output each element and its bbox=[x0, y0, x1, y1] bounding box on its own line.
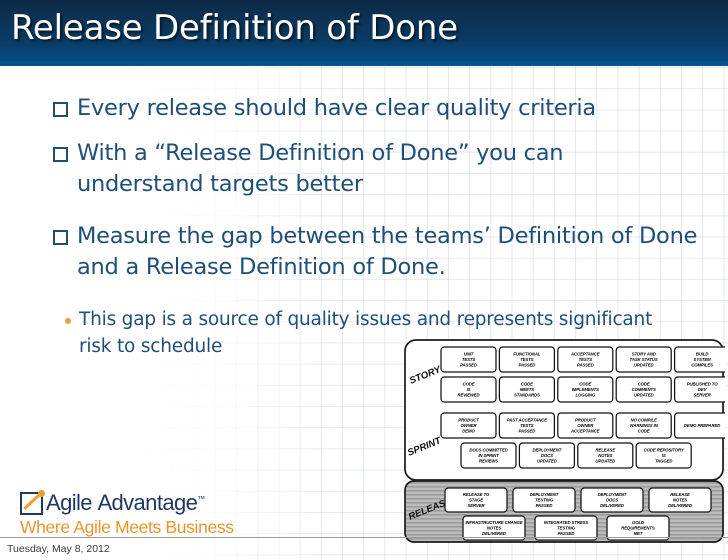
svg-text:IS: IS bbox=[662, 453, 666, 458]
logo-name-part2: Advantage bbox=[97, 490, 197, 515]
svg-text:FUNCTIONAL: FUNCTIONAL bbox=[513, 351, 540, 356]
dod-criterion-card: DEPLOYMENTTESTINGPASSED bbox=[513, 488, 575, 512]
svg-text:TASK STATUS: TASK STATUS bbox=[630, 357, 658, 362]
svg-text:UPDATED: UPDATED bbox=[537, 459, 557, 464]
svg-text:REVIEWS: REVIEWS bbox=[479, 459, 498, 464]
svg-text:PAST ACCEPTANCE: PAST ACCEPTANCE bbox=[507, 417, 547, 422]
dod-criterion-card: CODEMEETSSTANDARDS bbox=[499, 377, 554, 402]
svg-text:CODE: CODE bbox=[579, 381, 591, 386]
svg-text:DEMO: DEMO bbox=[462, 429, 475, 434]
svg-text:DEPLOYMENT: DEPLOYMENT bbox=[532, 447, 561, 452]
dod-criterion-card: DEPLOYMENTDOCSUPDATED bbox=[519, 443, 574, 468]
svg-text:OWNER: OWNER bbox=[461, 423, 478, 428]
svg-text:DEV: DEV bbox=[698, 387, 708, 392]
svg-text:NO COMPILE: NO COMPILE bbox=[631, 417, 657, 422]
dod-criterion-card: CODEISREVIEWED bbox=[441, 377, 496, 402]
svg-text:NOTES: NOTES bbox=[598, 453, 613, 458]
svg-text:PASSED: PASSED bbox=[519, 363, 536, 368]
logo-wordmark: Agile Advantage™ bbox=[46, 490, 205, 516]
dod-criterion-card: RELEASENOTESDELIVERED bbox=[649, 488, 711, 512]
square-bullet-icon bbox=[53, 230, 68, 245]
dod-criterion-card: STORY ANDTASK STATUSUPDATED bbox=[616, 347, 671, 372]
svg-text:DOCS: DOCS bbox=[606, 498, 618, 503]
square-bullet-icon bbox=[53, 147, 68, 162]
svg-text:IMPLEMENTS: IMPLEMENTS bbox=[572, 387, 599, 392]
dod-criterion-card: FUNCTIONALTESTSPASSED bbox=[499, 347, 554, 372]
svg-text:TESTS: TESTS bbox=[579, 357, 593, 362]
bullet-text-1: Every release should have clear quality … bbox=[77, 93, 596, 124]
svg-text:IN SPRINT: IN SPRINT bbox=[478, 453, 499, 458]
svg-text:DELIVERED: DELIVERED bbox=[668, 503, 692, 508]
dod-criterion-card: PRODUCTOWNERDEMO bbox=[441, 413, 496, 438]
svg-text:DEPLOYMENT: DEPLOYMENT bbox=[598, 492, 627, 497]
svg-text:REQUIREMENTS: REQUIREMENTS bbox=[621, 526, 655, 531]
svg-text:SERVER: SERVER bbox=[467, 503, 485, 508]
svg-text:PRODUCT: PRODUCT bbox=[575, 417, 596, 422]
agile-advantage-arrow-icon bbox=[20, 492, 43, 515]
definition-of-done-svg: STORYUNITTESTSPASSEDFUNCTIONALTESTSPASSE… bbox=[403, 338, 725, 544]
svg-text:COMMENTS: COMMENTS bbox=[632, 387, 656, 392]
svg-text:MEETS: MEETS bbox=[520, 387, 535, 392]
square-bullet-icon bbox=[53, 102, 68, 117]
brand-logo: Agile Advantage™ Where Agile Meets Busin… bbox=[20, 490, 234, 538]
svg-text:DEPLOYMENT: DEPLOYMENT bbox=[530, 492, 559, 497]
svg-text:ACCEPTANCE: ACCEPTANCE bbox=[570, 429, 600, 434]
svg-text:TESTS: TESTS bbox=[520, 423, 534, 428]
svg-text:DOCS COMMITTED: DOCS COMMITTED bbox=[469, 447, 507, 452]
svg-text:IS: IS bbox=[467, 387, 471, 392]
svg-text:WARNINGS IN: WARNINGS IN bbox=[630, 423, 659, 428]
bullet-item-3: Measure the gap between the teams’ Defin… bbox=[53, 221, 722, 283]
svg-text:INTEGRATED STRESS: INTEGRATED STRESS bbox=[544, 520, 589, 525]
svg-text:DEMO PREPARED: DEMO PREPARED bbox=[684, 423, 720, 428]
svg-text:TESTING: TESTING bbox=[557, 526, 576, 531]
trademark-symbol: ™ bbox=[197, 495, 204, 504]
svg-text:PASSED: PASSED bbox=[558, 531, 575, 536]
bullet-text-2: With a “Release Definition of Done” you … bbox=[77, 138, 662, 200]
dod-criterion-card: RELEASENOTESUPDATED bbox=[578, 443, 633, 468]
footer-date: Tuesday, May 8, 2012 bbox=[7, 543, 110, 555]
svg-text:UPDATED: UPDATED bbox=[634, 363, 654, 368]
svg-text:REVIEWED: REVIEWED bbox=[457, 393, 479, 398]
svg-text:COMPILES: COMPILES bbox=[691, 363, 713, 368]
dod-criterion-card: ACCEPTANCETESTSPASSED bbox=[558, 347, 613, 372]
svg-text:SERVER: SERVER bbox=[694, 393, 712, 398]
svg-text:TESTS: TESTS bbox=[462, 357, 476, 362]
svg-text:RELEASE TO: RELEASE TO bbox=[463, 492, 490, 497]
footer-divider bbox=[0, 537, 728, 538]
svg-text:NOTES: NOTES bbox=[673, 498, 688, 503]
svg-text:STAGE: STAGE bbox=[469, 498, 483, 503]
brand-tagline: Where Agile Meets Business bbox=[20, 517, 234, 538]
svg-text:CODE: CODE bbox=[462, 381, 474, 386]
round-bullet-icon bbox=[65, 318, 71, 324]
svg-text:TESTING: TESTING bbox=[535, 498, 554, 503]
dod-criterion-card: DEMO PREPARED bbox=[675, 413, 725, 438]
svg-text:UPDATED: UPDATED bbox=[595, 459, 615, 464]
dod-criterion-card: PAST ACCEPTANCETESTSPASSED bbox=[499, 413, 554, 438]
logo-name-part1: Agile bbox=[46, 490, 92, 515]
svg-text:PUBLISHED TO: PUBLISHED TO bbox=[687, 381, 718, 386]
svg-text:DOCS: DOCS bbox=[541, 453, 553, 458]
svg-text:PASSED: PASSED bbox=[460, 363, 477, 368]
bullet-item-2: With a “Release Definition of Done” you … bbox=[53, 138, 662, 200]
svg-text:OWNER: OWNER bbox=[577, 423, 594, 428]
svg-text:INFRASTRUCTURE CHANGE: INFRASTRUCTURE CHANGE bbox=[465, 520, 523, 525]
slide-title-bar: Release Definition of Done bbox=[0, 0, 728, 66]
svg-text:SYSTEM: SYSTEM bbox=[694, 357, 712, 362]
svg-text:RELEASE: RELEASE bbox=[595, 447, 615, 452]
svg-text:DELIVERED: DELIVERED bbox=[600, 503, 624, 508]
page-title: Release Definition of Done bbox=[11, 8, 458, 48]
svg-text:CODE REPOSITORY: CODE REPOSITORY bbox=[644, 447, 685, 452]
dod-criterion-card: CODECOMMENTSUPDATED bbox=[616, 377, 671, 402]
dod-criterion-card: DEPLOYMENTDOCSDELIVERED bbox=[581, 488, 643, 512]
svg-text:PASSED: PASSED bbox=[519, 429, 536, 434]
svg-text:BUILD: BUILD bbox=[696, 351, 709, 356]
svg-text:RELEASE: RELEASE bbox=[670, 492, 690, 497]
svg-text:STORY AND: STORY AND bbox=[632, 351, 656, 356]
svg-text:CODE: CODE bbox=[521, 381, 533, 386]
svg-text:CODE: CODE bbox=[638, 381, 650, 386]
logo-wordmark-row: Agile Advantage™ bbox=[20, 490, 234, 516]
bullet-text-3: Measure the gap between the teams’ Defin… bbox=[77, 221, 722, 283]
svg-text:LOGGING: LOGGING bbox=[576, 393, 596, 398]
svg-text:GOLD: GOLD bbox=[632, 520, 644, 525]
svg-text:UPDATED: UPDATED bbox=[634, 393, 654, 398]
dod-criterion-card: NO COMPILEWARNINGS INCODE bbox=[616, 413, 671, 438]
svg-text:PASSED: PASSED bbox=[536, 503, 553, 508]
svg-text:TESTS: TESTS bbox=[520, 357, 534, 362]
svg-text:DELIVERED: DELIVERED bbox=[482, 531, 506, 536]
dod-criterion-card: DOCS COMMITTEDIN SPRINTREVIEWS bbox=[461, 443, 516, 468]
dod-criterion-card: PUBLISHED TODEVSERVER bbox=[675, 377, 725, 402]
dod-criterion-card: CODE REPOSITORYISTAGGED bbox=[636, 443, 691, 468]
svg-text:MET: MET bbox=[634, 531, 643, 536]
dod-criterion-card: UNITTESTSPASSED bbox=[441, 347, 496, 372]
svg-text:STANDARDS: STANDARDS bbox=[514, 393, 540, 398]
svg-text:NOTES: NOTES bbox=[487, 526, 502, 531]
svg-text:UNIT: UNIT bbox=[464, 351, 474, 356]
bullet-item-1: Every release should have clear quality … bbox=[53, 93, 596, 124]
svg-text:PRODUCT: PRODUCT bbox=[458, 417, 479, 422]
dod-criterion-card: BUILDSYSTEMCOMPILES bbox=[675, 347, 725, 372]
svg-text:TAGGED: TAGGED bbox=[655, 459, 672, 464]
dod-criterion-card: CODEIMPLEMENTSLOGGING bbox=[558, 377, 613, 402]
dod-criterion-card: PRODUCTOWNERACCEPTANCE bbox=[558, 413, 613, 438]
dod-criterion-card: RELEASE TOSTAGESERVER bbox=[445, 488, 507, 512]
svg-text:PASSED: PASSED bbox=[577, 363, 594, 368]
svg-text:ACCEPTANCE: ACCEPTANCE bbox=[570, 351, 600, 356]
definition-of-done-diagram: STORYUNITTESTSPASSEDFUNCTIONALTESTSPASSE… bbox=[403, 338, 725, 544]
svg-text:CODE: CODE bbox=[638, 429, 650, 434]
